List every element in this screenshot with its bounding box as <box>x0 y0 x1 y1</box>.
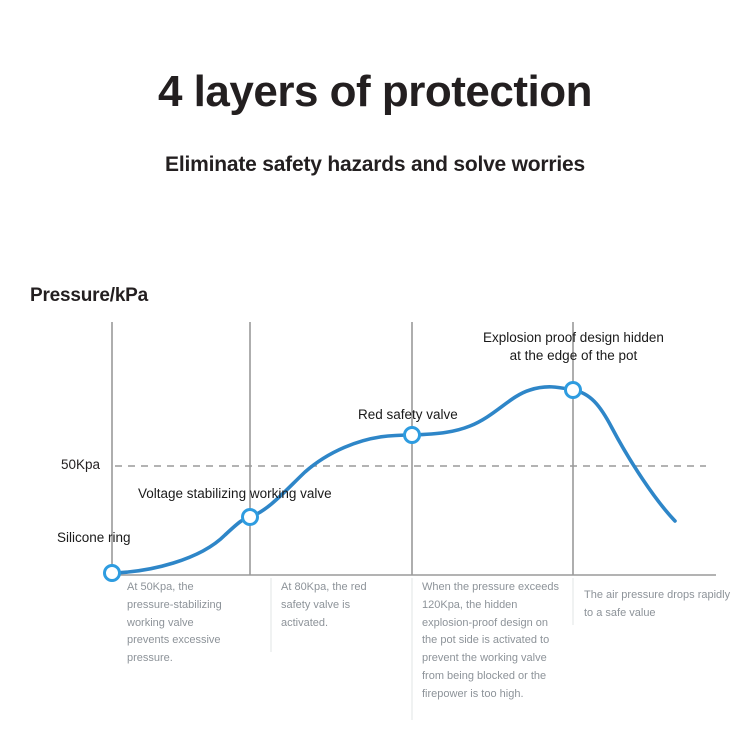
marker-silicone-ring[interactable] <box>105 566 120 581</box>
curve-markers <box>105 383 581 581</box>
y-axis-title: Pressure/kPa <box>30 285 148 307</box>
pressure-chart: Pressure/kPa 50Kpa Silicone ring Voltage… <box>0 0 750 750</box>
marker-red-safety-valve[interactable] <box>405 428 420 443</box>
annotation-explosion-proof-line2: at the edge of the pot <box>483 347 664 365</box>
caption-stage-4: The air pressure drops rapidly to a safe… <box>584 587 734 623</box>
marker-voltage-stabilizing-valve[interactable] <box>243 510 258 525</box>
marker-explosion-proof[interactable] <box>566 383 581 398</box>
chart-canvas <box>0 0 750 750</box>
annotation-voltage-stabilizing-valve: Voltage stabilizing working valve <box>138 485 332 503</box>
caption-stage-3: When the pressure exceeds 120Kpa, the hi… <box>422 579 565 704</box>
caption-stage-1: At 50Kpa, the pressure-stabilizing worki… <box>127 579 237 668</box>
threshold-tick-label: 50Kpa <box>61 457 100 472</box>
annotation-explosion-proof: Explosion proof design hidden at the edg… <box>483 329 664 364</box>
annotation-red-safety-valve: Red safety valve <box>358 406 458 424</box>
annotation-explosion-proof-line1: Explosion proof design hidden <box>483 329 664 347</box>
annotation-silicone-ring: Silicone ring <box>57 529 131 547</box>
caption-stage-2: At 80Kpa, the red safety valve is activa… <box>281 579 389 632</box>
